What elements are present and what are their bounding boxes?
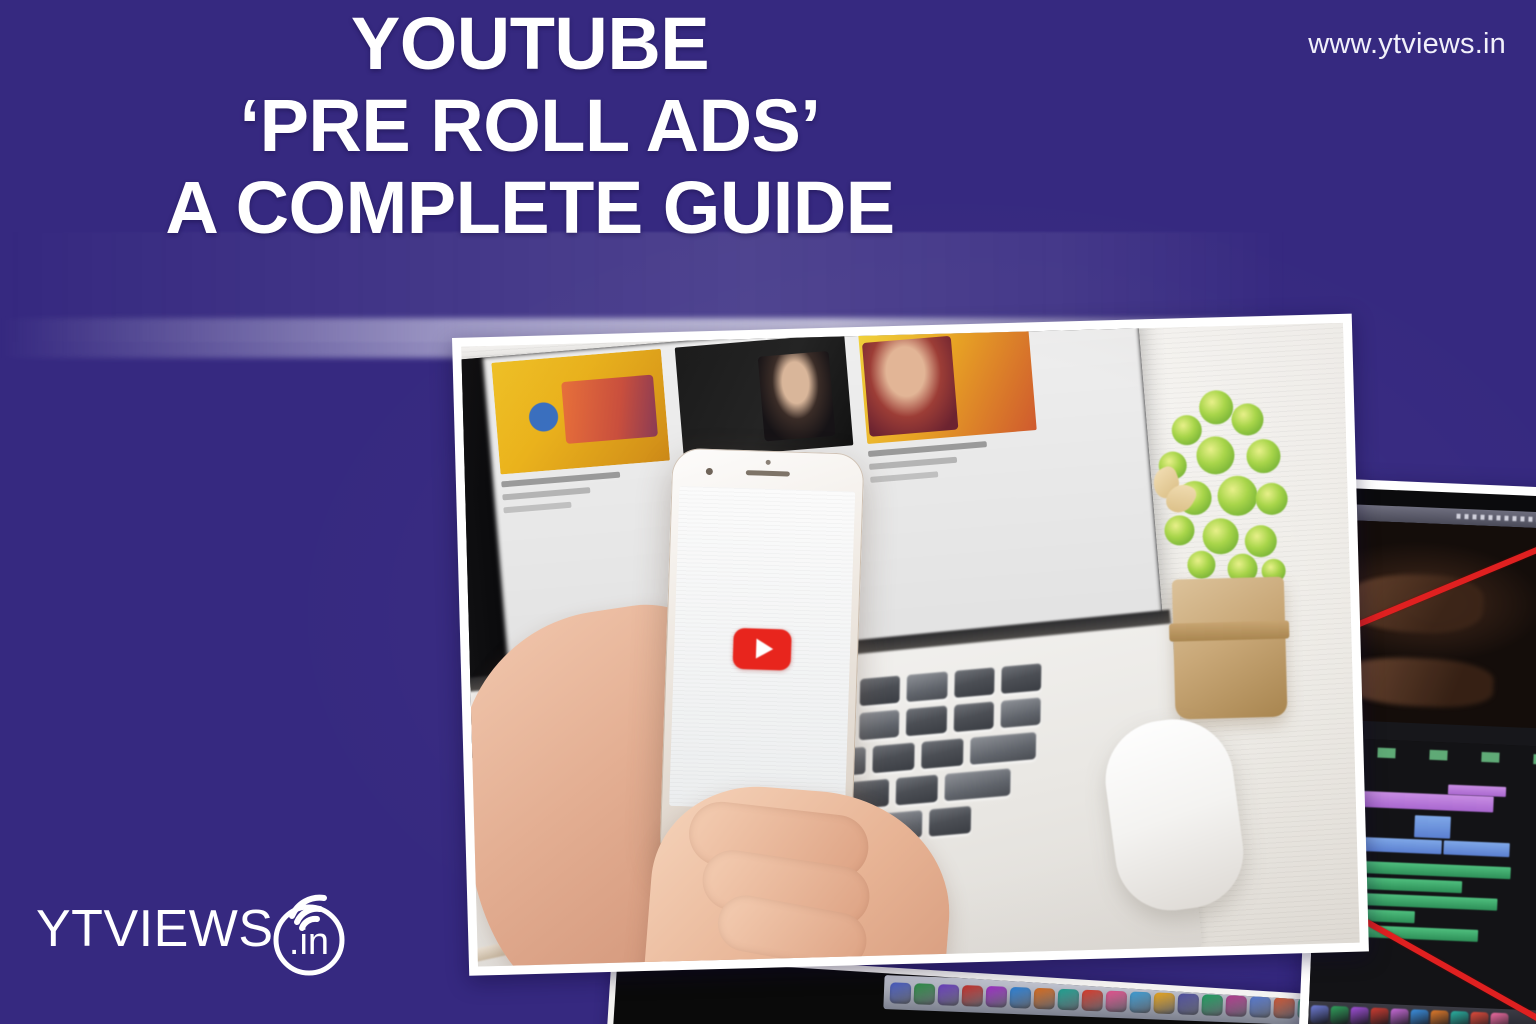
- dock-app-icon[interactable]: [1129, 991, 1151, 1013]
- dock-app-icon[interactable]: [1009, 986, 1031, 1008]
- keyboard-key[interactable]: [1001, 663, 1042, 694]
- plant-leaf: [1246, 439, 1281, 474]
- phone-earpiece: [746, 470, 790, 476]
- dock-app-icon[interactable]: [1057, 988, 1079, 1010]
- raffia-bow: [1153, 467, 1210, 522]
- plant-leaf: [1202, 518, 1239, 555]
- video-thumbnail: [491, 349, 670, 475]
- poster-canvas: YOUTUBE ‘PRE ROLL ADS’ A COMPLETE GUIDE …: [0, 0, 1536, 1024]
- timeline-clip[interactable]: [1414, 815, 1451, 838]
- dock-app-icon[interactable]: [1490, 1013, 1509, 1024]
- dock-app-icon[interactable]: [1201, 994, 1223, 1016]
- keyboard-key[interactable]: [970, 732, 1036, 765]
- dock-app-icon[interactable]: [1330, 1006, 1349, 1024]
- keyboard-key[interactable]: [872, 743, 914, 774]
- dock-app-icon[interactable]: [1249, 996, 1271, 1018]
- headline-line-3: A COMPLETE GUIDE: [0, 172, 1060, 244]
- keyboard-key[interactable]: [929, 806, 971, 837]
- svg-text:.in: .in: [288, 921, 328, 963]
- dock-app-icon[interactable]: [914, 983, 936, 1005]
- phone-sensor: [766, 460, 771, 465]
- plant-leaf: [1255, 482, 1288, 515]
- keyboard-key[interactable]: [921, 738, 963, 769]
- plant-leaf: [1199, 390, 1234, 425]
- dock-app-icon[interactable]: [962, 985, 984, 1007]
- main-hero-photo: [452, 314, 1369, 976]
- headline-line-2: ‘PRE ROLL ADS’: [0, 90, 1060, 162]
- youtube-play-icon: [733, 627, 792, 670]
- dock-app-icon[interactable]: [1273, 997, 1295, 1019]
- video-thumbnail: [858, 323, 1037, 444]
- timeline-clip[interactable]: [1443, 840, 1510, 857]
- dock-app-icon[interactable]: [1390, 1008, 1409, 1024]
- dock-app-icon[interactable]: [1081, 989, 1103, 1011]
- logo-wordmark: YTVIEWS: [36, 903, 274, 955]
- page-title: YOUTUBE ‘PRE ROLL ADS’ A COMPLETE GUIDE: [0, 8, 1060, 243]
- dock-app-icon[interactable]: [1153, 992, 1175, 1014]
- phone-screen: [669, 486, 855, 812]
- channel-line: [502, 487, 591, 500]
- play-triangle-icon: [755, 639, 773, 660]
- video-card: [491, 349, 673, 514]
- keyboard-key[interactable]: [953, 702, 994, 733]
- headline-line-1: YOUTUBE: [0, 8, 1060, 80]
- site-url-label[interactable]: www.ytviews.in: [1308, 28, 1506, 61]
- keyboard-key[interactable]: [944, 768, 1010, 801]
- dock-app-icon[interactable]: [890, 982, 912, 1004]
- dock-app-icon[interactable]: [1310, 1005, 1329, 1024]
- main-photo-scene: [461, 323, 1359, 967]
- keyboard-key[interactable]: [907, 671, 948, 702]
- keyboard-key[interactable]: [954, 667, 995, 698]
- dock-app-icon[interactable]: [1470, 1012, 1489, 1024]
- plant-leaf: [1231, 403, 1264, 436]
- dock-app-icon[interactable]: [1410, 1009, 1429, 1024]
- potted-plant: [1149, 386, 1308, 720]
- ytviews-logo[interactable]: YTVIEWS .in: [36, 880, 354, 978]
- plant-leaf: [1187, 550, 1216, 579]
- video-title-line: [501, 472, 620, 488]
- video-title-line: [868, 441, 987, 457]
- dock-app-icon[interactable]: [1033, 987, 1055, 1009]
- keyboard-key[interactable]: [896, 775, 938, 806]
- video-card: [858, 323, 1040, 483]
- phone-front-camera: [706, 468, 713, 475]
- video-thumbnail: [675, 334, 854, 460]
- dock-app-icon[interactable]: [1350, 1007, 1369, 1024]
- channel-line: [869, 457, 958, 470]
- dock-app-icon[interactable]: [938, 984, 960, 1006]
- plant-pot: [1172, 577, 1288, 720]
- dock-app-icon[interactable]: [1430, 1010, 1449, 1024]
- keyboard-key[interactable]: [859, 710, 900, 741]
- keyboard-key[interactable]: [906, 706, 947, 737]
- logo-domain-badge-icon: .in: [262, 886, 354, 978]
- plant-leaf: [1171, 415, 1202, 446]
- dock-app-icon[interactable]: [1225, 995, 1247, 1017]
- dock-app-icon[interactable]: [1370, 1008, 1389, 1024]
- keyboard-key[interactable]: [1000, 697, 1041, 728]
- plant-leaf: [1217, 475, 1258, 516]
- dock-app-icon[interactable]: [1105, 990, 1127, 1012]
- dock-app-icon[interactable]: [1177, 993, 1199, 1015]
- keyboard-key[interactable]: [860, 676, 901, 707]
- plant-leaf: [1244, 525, 1277, 558]
- dock-app-icon[interactable]: [1450, 1011, 1469, 1024]
- dock-app-icon[interactable]: [985, 985, 1007, 1007]
